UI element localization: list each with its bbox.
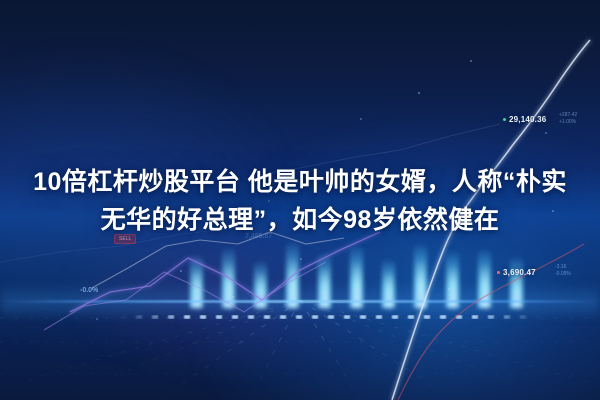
particle [448,288,450,290]
chart-line-purple-b [44,262,326,330]
quote-low-marker-icon [497,271,500,274]
quote-high-value: 29,140.36 [509,115,546,124]
page-title-line-1: 10倍杠杆炒股平台 他是叶帅的女婿，人称“朴实 [14,163,586,201]
quote-high-delta-pct: +1.00% [559,119,577,126]
quote-high-delta: +287.42 +1.00% [559,112,577,126]
chart-line-purple-a [70,232,380,312]
particle [300,258,302,260]
quote-low-delta-abs: -3.16 [555,264,571,271]
quote-high-label: 29,140.36 [503,115,546,124]
particle [96,318,98,320]
quote-high-delta-abs: +287.42 [559,112,577,119]
particle [470,60,472,62]
particle [360,118,362,120]
particle [180,270,182,272]
page-title-line-2: 无华的好总理”，如今98岁依然健在 [14,201,586,239]
quote-low-delta: -3.16 -0.09% [555,264,571,278]
particle [418,92,420,94]
quote-low-delta-pct: -0.09% [555,271,571,278]
banner-canvas: 29,140.36 +287.42 +1.00% 3,690.47 -3.16 … [0,0,600,400]
particle [232,296,234,298]
quote-low-label: 3,690.47 [497,268,536,277]
quote-low-value: 3,690.47 [503,268,536,277]
axis-pct-left: -0.0% [80,287,98,294]
particle [545,132,547,134]
quote-high-marker-icon [503,118,506,121]
page-title: 10倍杠杆炒股平台 他是叶帅的女婿，人称“朴实 无华的好总理”，如今98岁依然健… [0,163,600,239]
